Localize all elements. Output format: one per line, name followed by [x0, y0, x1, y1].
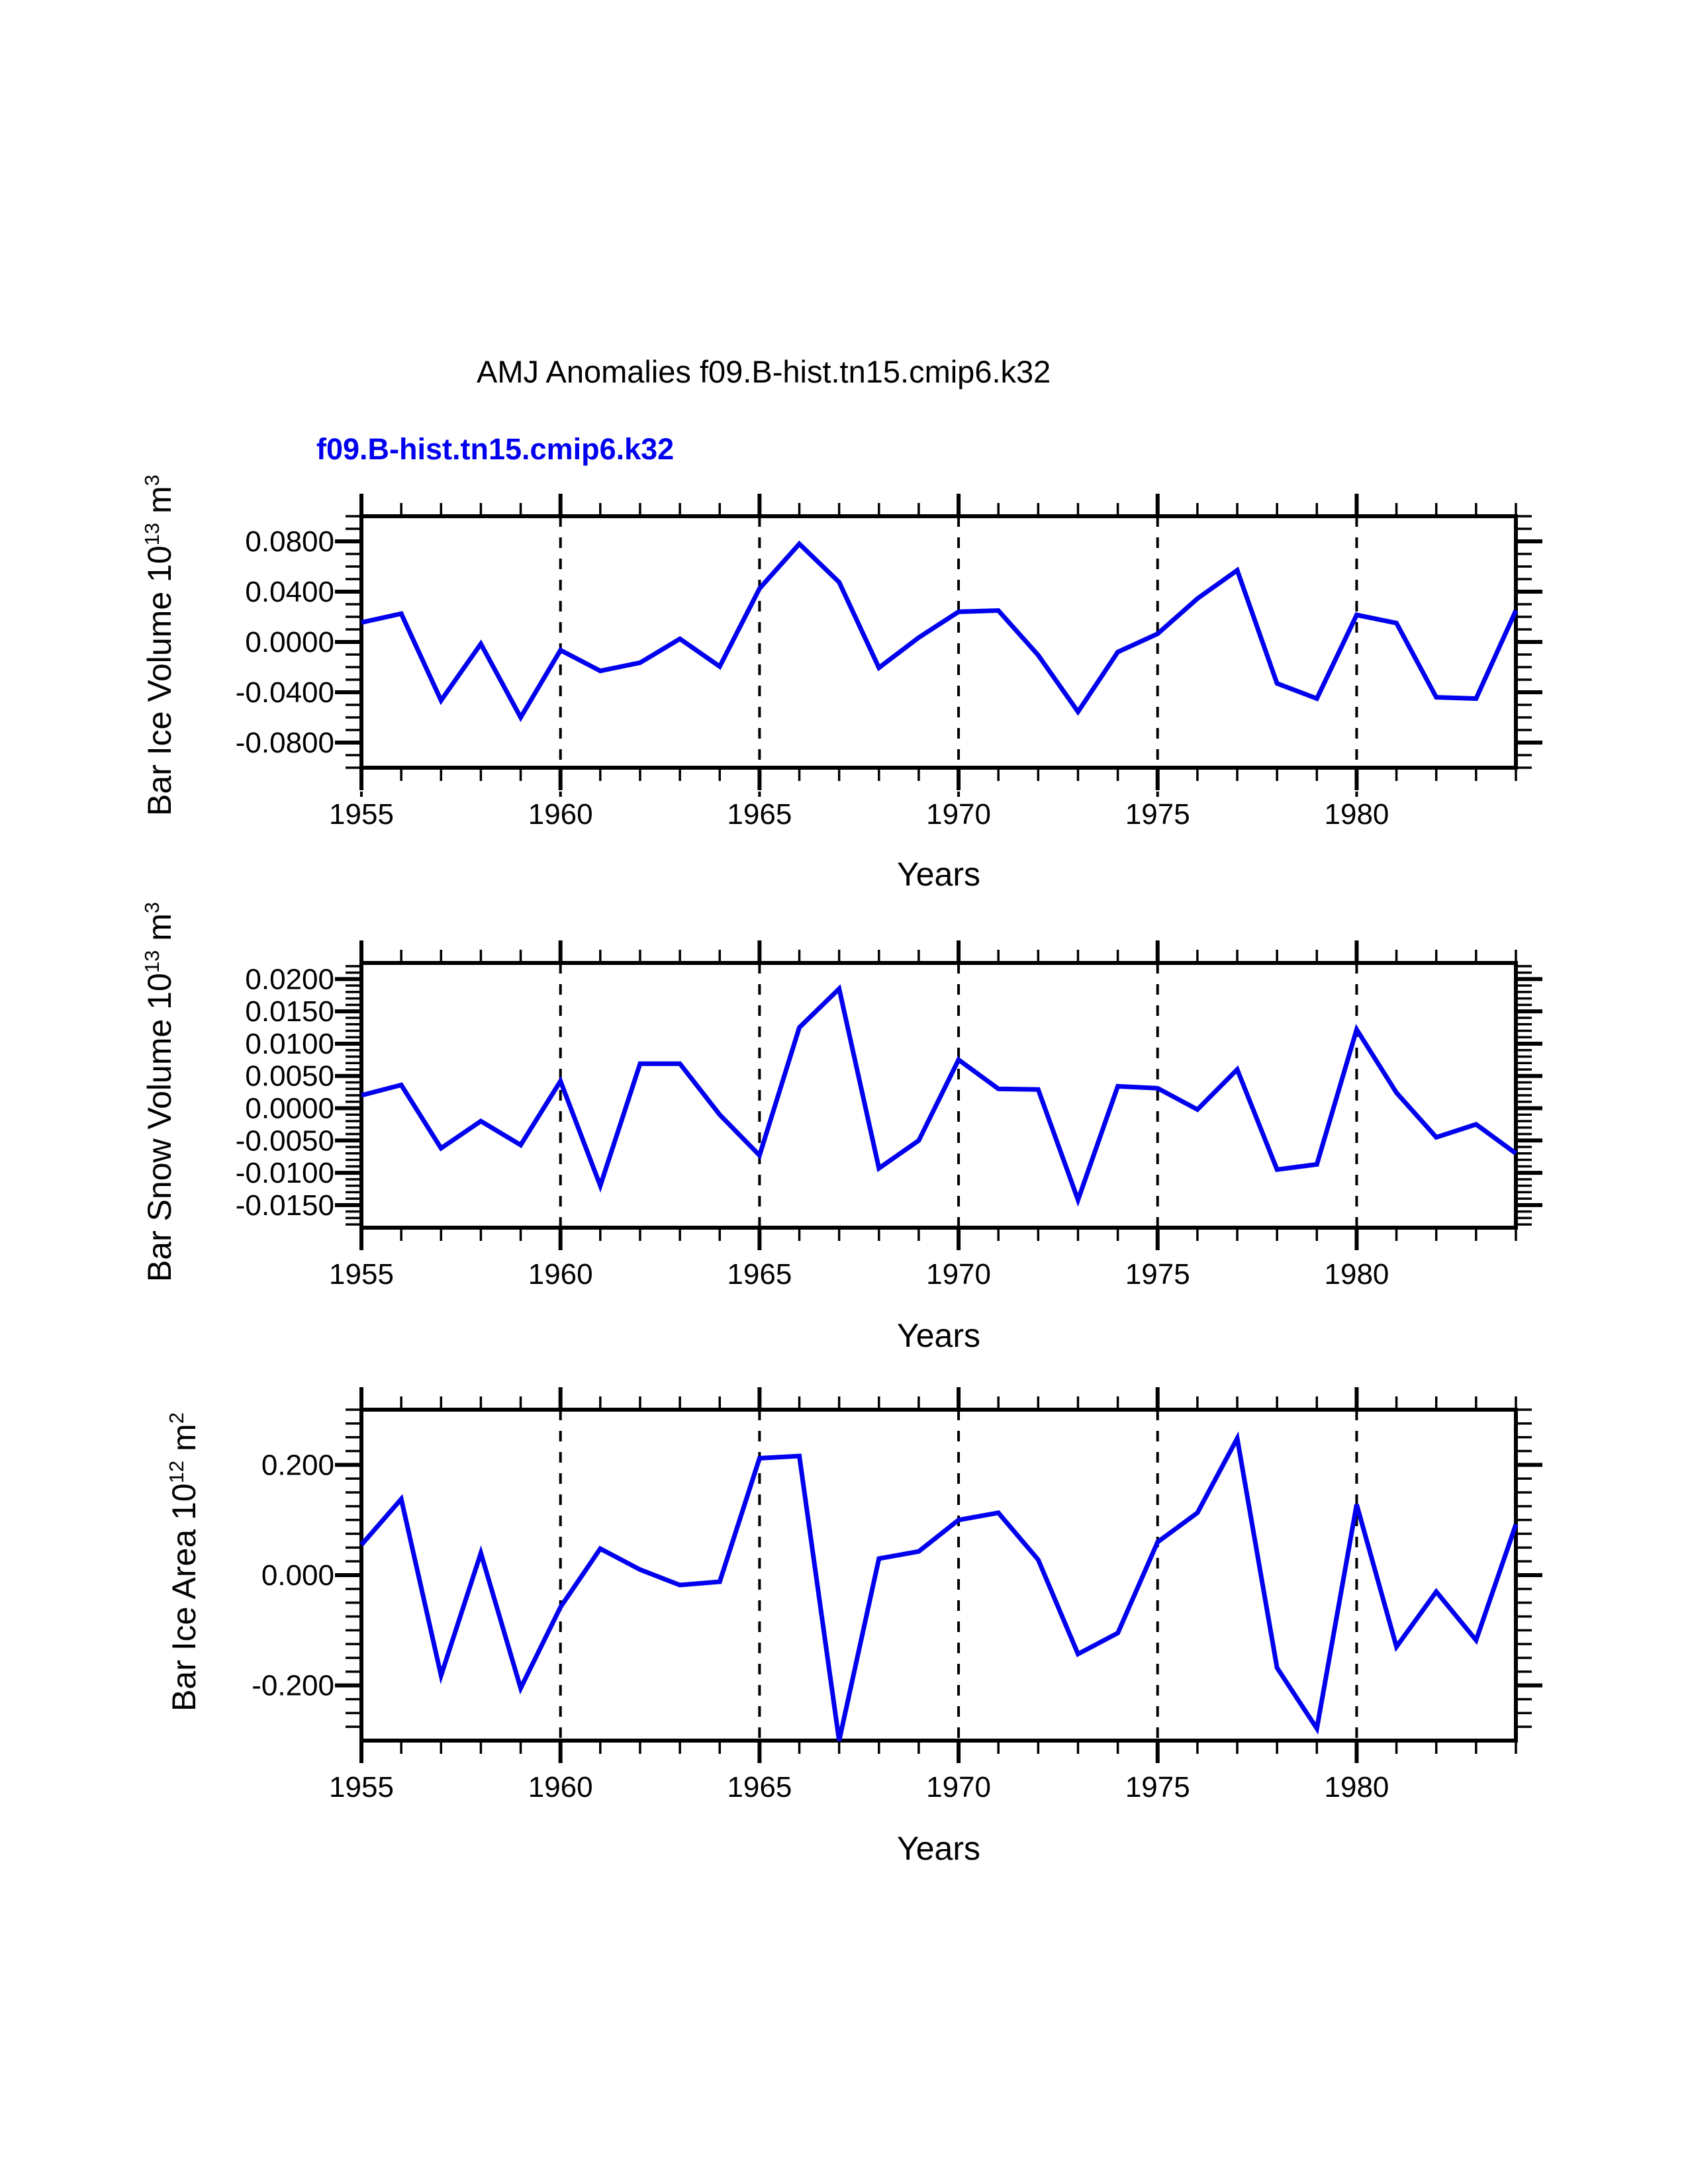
panel3-ylabel-unit: m: [165, 1424, 203, 1451]
p1-ytick-label: -0.0400: [236, 676, 334, 709]
p2-xtick-label: 1955: [329, 1258, 394, 1291]
p1-ytick-label: 0.0000: [245, 626, 334, 659]
p1-xtick-label: 1970: [926, 798, 991, 831]
panel3-ylabel-unit-exp: 2: [165, 1412, 188, 1424]
p2-xtick-label: 1980: [1325, 1258, 1389, 1291]
p2-ytick-label: 0.0100: [245, 1028, 334, 1060]
panel3-ylabel-group: Bar Ice Area 1012 m2: [165, 1412, 203, 1711]
p1-xtick-label: 1975: [1125, 798, 1190, 831]
panel2-ytick-labels: 0.02000.01500.01000.00500.0000-0.0050-0.…: [236, 963, 334, 1221]
p1-xtick-label: 1955: [329, 798, 394, 831]
p3-ytick-label: 0.200: [261, 1449, 334, 1481]
p2-ytick-label: 0.0000: [245, 1093, 334, 1125]
panel2-xlabel: Years: [897, 1317, 980, 1354]
p2-ytick-label: -0.0050: [236, 1124, 334, 1157]
p2-xtick-label: 1965: [727, 1258, 792, 1291]
p2-ytick-label: -0.0100: [236, 1157, 334, 1189]
panel1-ylabel-exp: 13: [140, 523, 164, 545]
p3-xtick-label: 1955: [329, 1771, 394, 1803]
panel2-ylabel-unit-exp: 3: [140, 902, 164, 913]
panel1-ylabel-unit-exp: 3: [140, 475, 164, 486]
p1-ytick-label: -0.0800: [236, 727, 334, 759]
p3-ytick-label: -0.200: [252, 1670, 334, 1702]
p2-xtick-label: 1975: [1125, 1258, 1190, 1291]
p2-xtick-label: 1960: [528, 1258, 593, 1291]
p2-ytick-label: 0.0200: [245, 963, 334, 995]
figure-canvas: AMJ Anomalies f09.B-hist.tn15.cmip6.k32 …: [0, 0, 1688, 2184]
p3-xtick-label: 1960: [528, 1771, 593, 1803]
panel1-ylabel-text: Bar Ice Volume 10: [141, 545, 178, 816]
p1-xtick-label: 1960: [528, 798, 593, 831]
panel1-ylabel-unit: m: [141, 486, 178, 514]
p1-xtick-label: 1965: [727, 798, 792, 831]
panel1-xlabel: Years: [897, 856, 980, 893]
p1-ytick-label: 0.0400: [245, 576, 334, 608]
multi-panel-line-chart: AMJ Anomalies f09.B-hist.tn15.cmip6.k32 …: [0, 0, 1688, 2184]
legend-label: f09.B-hist.tn15.cmip6.k32: [316, 432, 674, 466]
panel3-ylabel: Bar Ice Area 1012 m2: [165, 1412, 203, 1711]
panel3-ylabel-exp: 12: [165, 1461, 188, 1483]
p2-ytick-label: 0.0050: [245, 1060, 334, 1093]
panel2-ylabel-exp: 13: [140, 950, 164, 973]
panel2-ylabel-text: Bar Snow Volume 10: [141, 973, 178, 1282]
chart-title: AMJ Anomalies f09.B-hist.tn15.cmip6.k32: [477, 354, 1051, 389]
p2-ytick-label: -0.0150: [236, 1189, 334, 1222]
panel3-xlabel: Years: [897, 1830, 980, 1867]
p2-ytick-label: 0.0150: [245, 995, 334, 1028]
p3-xtick-label: 1975: [1125, 1771, 1190, 1803]
panel2-ylabel-unit: m: [141, 913, 178, 941]
p3-ytick-label: 0.000: [261, 1559, 334, 1592]
p2-xtick-label: 1970: [926, 1258, 991, 1291]
p1-ytick-label: 0.0800: [245, 525, 334, 558]
p3-xtick-label: 1980: [1325, 1771, 1389, 1803]
p3-xtick-label: 1965: [727, 1771, 792, 1803]
panel3-ylabel-text: Bar Ice Area 10: [165, 1483, 203, 1711]
p1-xtick-label: 1980: [1325, 798, 1389, 831]
p3-xtick-label: 1970: [926, 1771, 991, 1803]
